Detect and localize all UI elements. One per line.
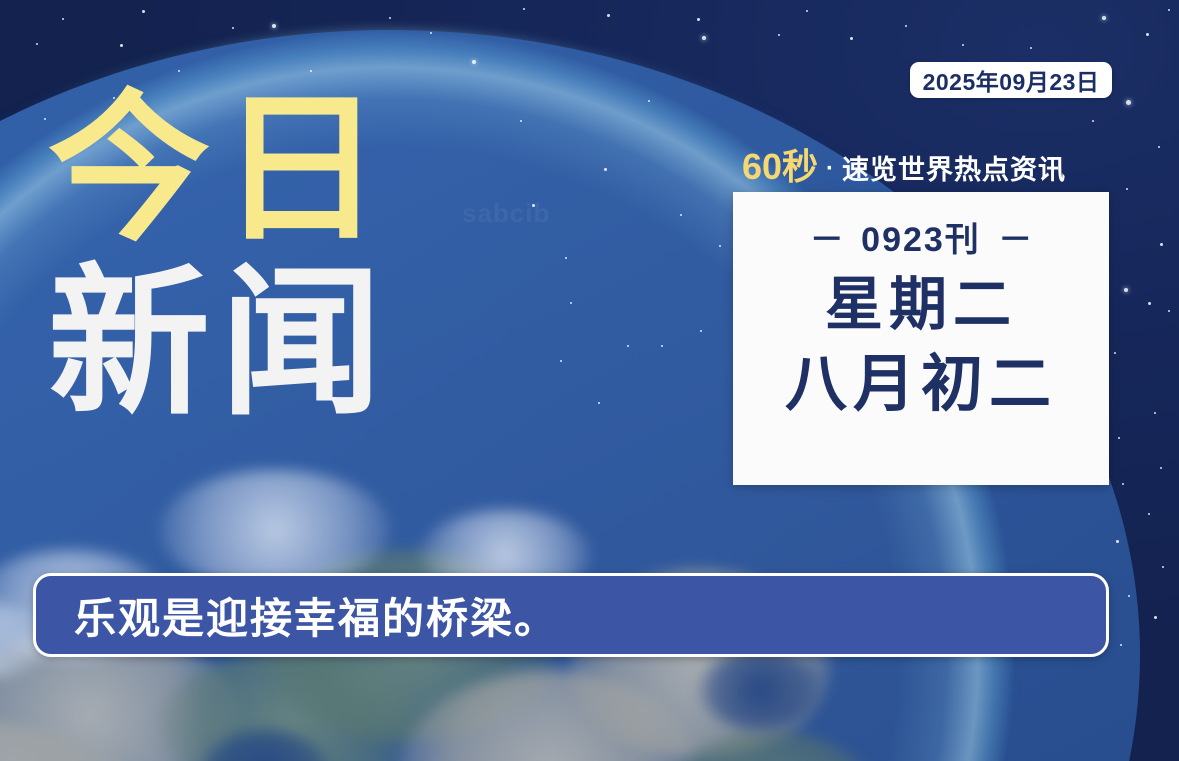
calendar-card: － 0923刊 － 星期二 八月初二 <box>733 192 1109 485</box>
weekday-label: 星期二 <box>825 275 1017 336</box>
quote-text: 乐观是迎接幸福的桥梁。 <box>36 585 558 646</box>
tagline-seconds: 60秒 <box>742 138 818 190</box>
issue-number: 0923刊 <box>861 221 981 259</box>
faint-watermark: sabcib <box>462 198 550 229</box>
issue-dash-right: － <box>992 221 1038 259</box>
news-poster: sabcib 今日 新闻 2025年09月23日 60秒 · 速览世界热点资讯 … <box>0 0 1179 761</box>
date-badge-label: 2025年09月23日 <box>923 63 1100 97</box>
page-title: 今日 新闻 <box>48 92 392 421</box>
date-badge: 2025年09月23日 <box>910 62 1112 98</box>
headline-line-2: 新闻 <box>48 266 392 422</box>
tagline-text: 速览世界热点资讯 <box>842 148 1066 187</box>
tagline-separator: · <box>824 155 836 183</box>
issue-dash-left: － <box>804 221 850 259</box>
quote-bar: 乐观是迎接幸福的桥梁。 <box>33 573 1109 657</box>
lunar-date-label: 八月初二 <box>785 352 1057 417</box>
issue-number-row: － 0923刊 － <box>804 212 1039 261</box>
tagline: 60秒 · 速览世界热点资讯 <box>742 138 1066 190</box>
headline-line-1: 今日 <box>48 92 392 248</box>
